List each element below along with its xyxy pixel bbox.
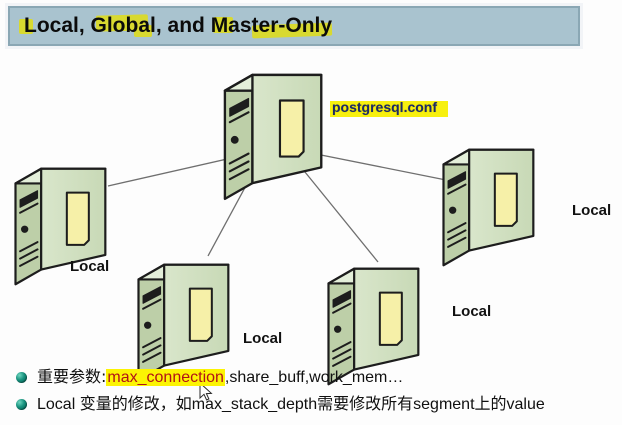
segment-left-label: Local: [70, 258, 109, 275]
bullet-2-seg-4: segment: [413, 396, 474, 413]
segment-right-label: Local: [572, 202, 611, 219]
postgresql-conf-label: postgresql.conf: [332, 99, 437, 115]
slide-canvas: Local, Global, and Master-Only: [0, 0, 622, 425]
postgresql-conf-label-wrap: postgresql.conf: [332, 99, 437, 115]
segment-server-right: [444, 150, 534, 266]
bullet-2-seg-2: max_stack_depth: [192, 396, 317, 413]
bullet-sphere-icon: [16, 372, 27, 383]
segment-bottom-left-label: Local: [243, 330, 282, 347]
bullet-sphere-icon: [16, 399, 27, 410]
segment-server-bottom-left: [139, 265, 229, 381]
list-item: 重要参数:max_connection,share_buff,work_mem…: [16, 367, 616, 388]
bullet-2-seg-1: 变量的修改，如: [80, 394, 192, 413]
bullet-1-seg-1: max_connection: [106, 369, 225, 386]
bullet-1-text: 重要参数:max_connection,share_buff,work_mem…: [37, 367, 403, 388]
bullet-2-seg-6: value: [507, 396, 545, 413]
bullet-2-text: Local 变量的修改，如max_stack_depth需要修改所有segmen…: [37, 394, 545, 415]
bullet-2-seg-0: Local: [37, 396, 80, 413]
list-item: Local 变量的修改，如max_stack_depth需要修改所有segmen…: [16, 394, 616, 415]
bullet-2-seg-3: 需要修改所有: [317, 394, 413, 413]
segment-bottom-right-label: Local: [452, 303, 491, 320]
bullet-1-seg-2: ,share_buff,work_mem…: [225, 369, 403, 386]
master-server: [225, 75, 321, 199]
bullet-1-seg-0: 重要参数:: [37, 367, 106, 386]
bullet-2-seg-5: 上的: [475, 394, 507, 413]
network-diagram: .t-front { fill: url(#sFront); stroke:#1…: [0, 0, 622, 425]
bullet-list: 重要参数:max_connection,share_buff,work_mem……: [16, 367, 616, 421]
page-title: Local, Global, and Master-Only: [24, 14, 332, 38]
